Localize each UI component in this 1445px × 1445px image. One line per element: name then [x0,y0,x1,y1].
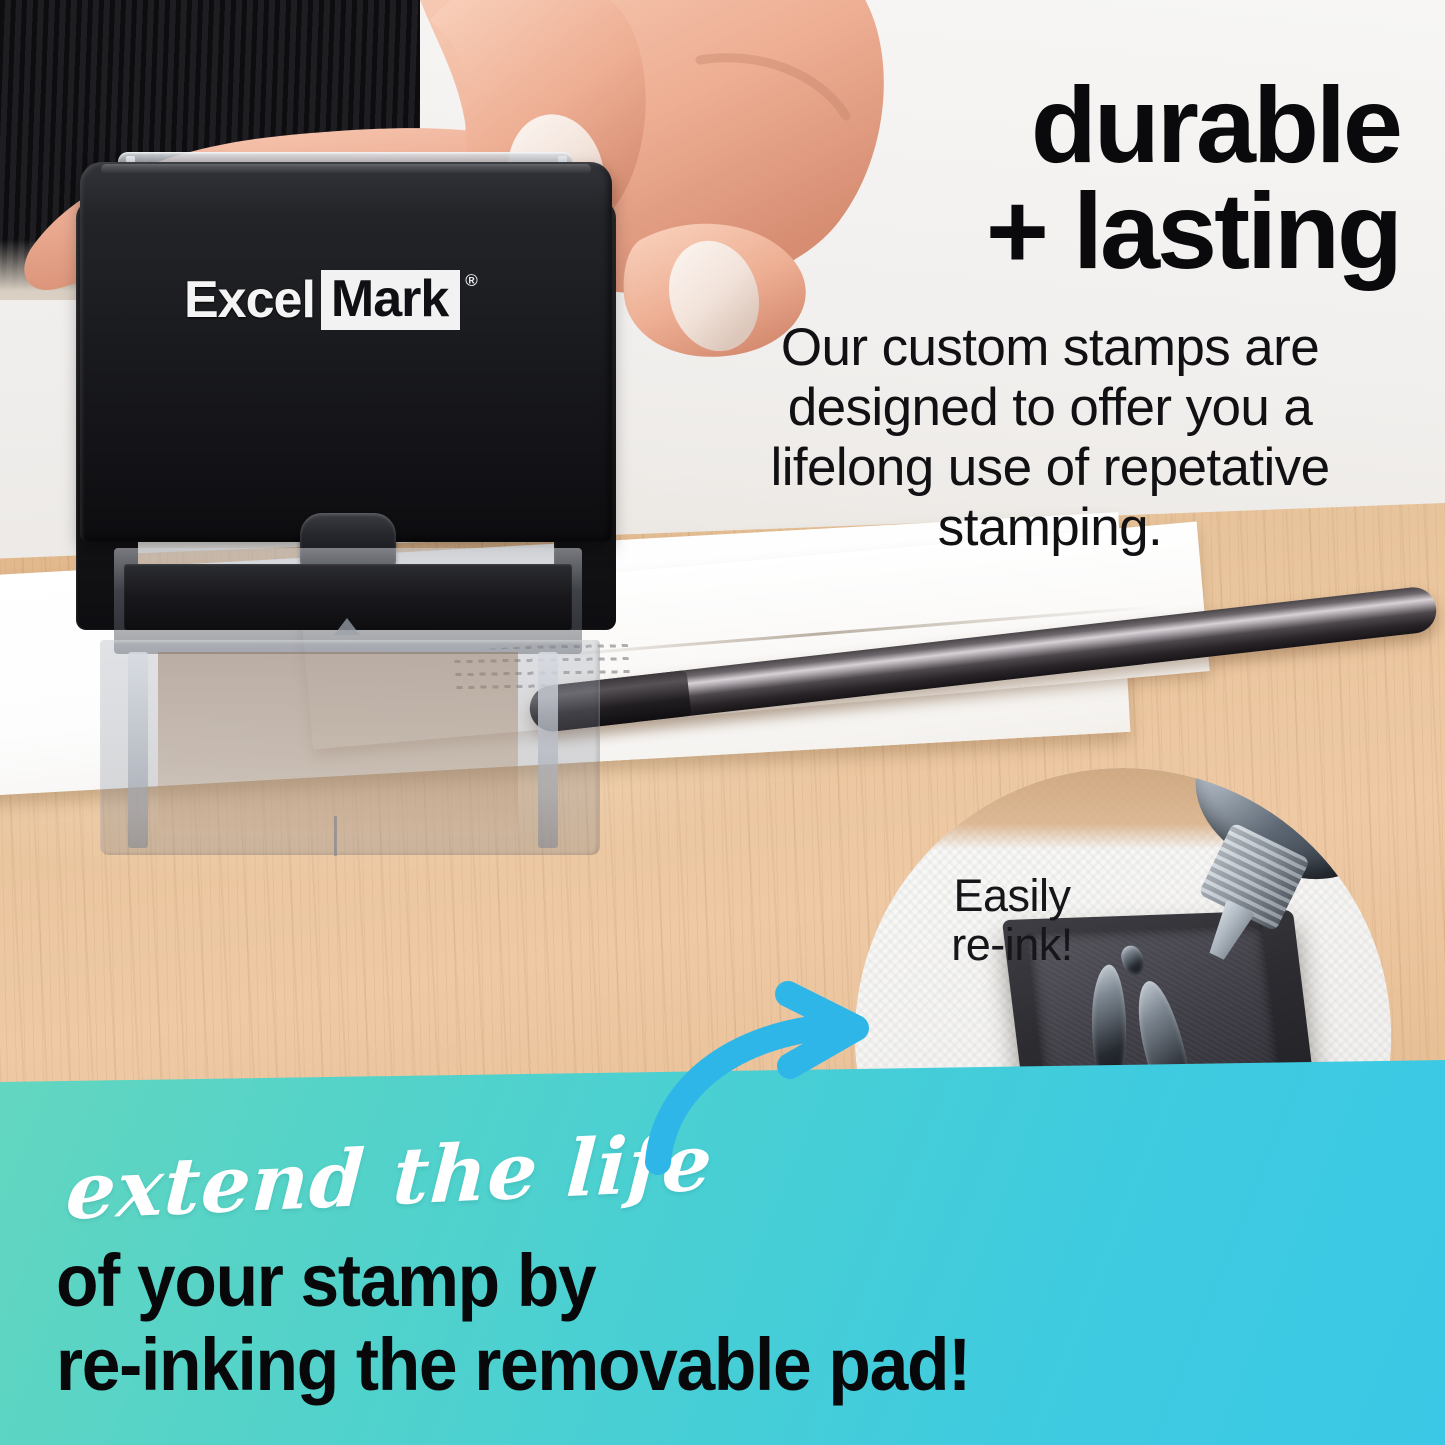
headline-block: durable + lasting [700,74,1400,281]
logo-text-excel: Excel [184,274,321,326]
logo-text-mark: Mark [321,270,460,330]
excelmark-logo: Excel Mark ® [184,270,477,330]
triangle-up-icon [334,618,360,635]
headline-line-1: durable [700,74,1400,176]
banner-script-headline: extend the life [64,1117,716,1238]
inset-callout-line-1: Easily [907,872,1117,921]
stamp-body: Excel Mark ® [80,162,612,542]
self-inking-stamp: Excel Mark ® [66,140,626,740]
registered-trademark-icon: ® [465,272,477,289]
banner-bold-line-1: of your stamp by [56,1238,595,1323]
inset-callout-line-2: re-ink! [907,921,1117,970]
curved-arrow-right-icon [620,980,1020,1205]
subcopy-paragraph: Our custom stamps are designed to offer … [740,318,1360,558]
stamp-base-window [158,652,518,834]
ink-drip [1120,945,1146,976]
headline-line-2: + lasting [700,180,1400,282]
stamp-base-post-right [538,652,558,848]
inset-callout: Easily re-ink! [907,872,1117,969]
stamp-base-seam [334,816,337,856]
banner-bold-line-2: re-inking the removable pad! [56,1322,970,1407]
stamp-base-post-left [128,652,148,848]
product-marketing-image: Excel Mark ® extend the life of your sta… [0,0,1445,1445]
